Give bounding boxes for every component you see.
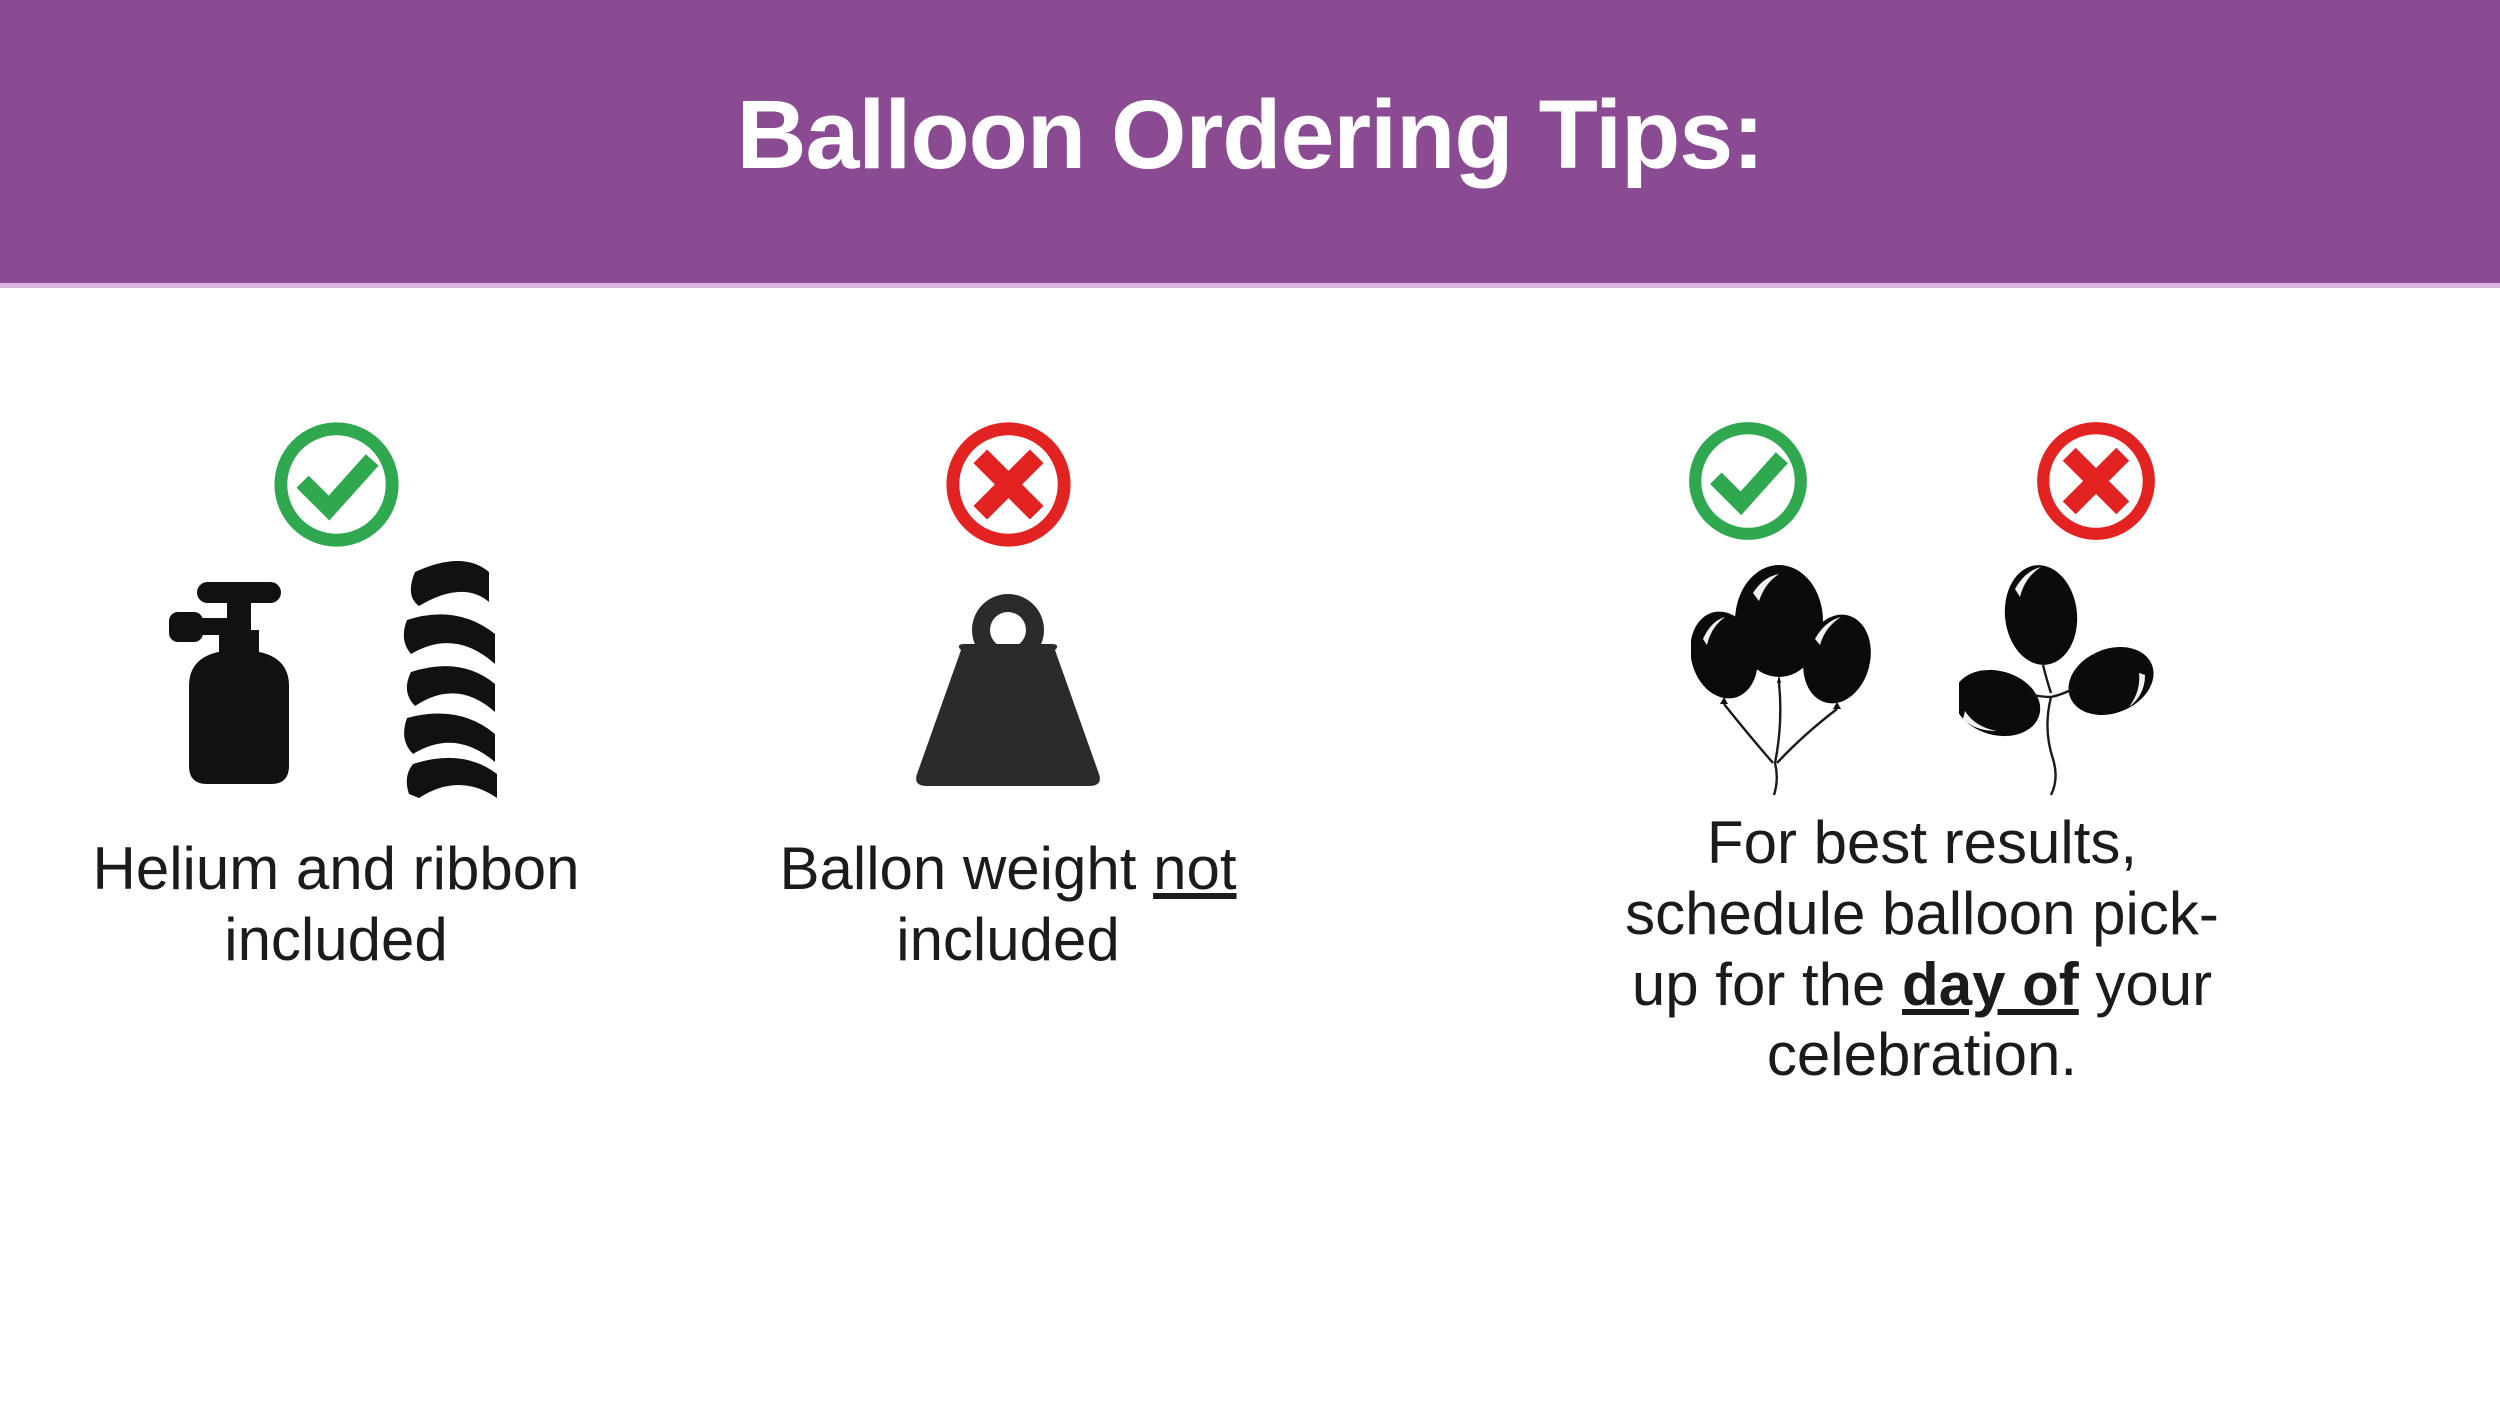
tip-caption-pickup-timing: For best results, schedule balloon pick-… bbox=[1344, 808, 2500, 1091]
tip-caption-helium-ribbon: Helium and ribbon included bbox=[0, 834, 672, 976]
green-check-circle-icon bbox=[1683, 416, 1813, 546]
tips-columns: Helium and ribbon included bbox=[0, 288, 2500, 1406]
caption-line: For best results, bbox=[1514, 808, 2330, 879]
status-marks-row bbox=[672, 288, 1344, 438]
caption-text: celebration. bbox=[1767, 1021, 2077, 1088]
caption-text: Helium and ribbon bbox=[93, 835, 580, 902]
curly-ribbon-icon bbox=[385, 558, 505, 798]
red-x-circle-icon bbox=[2031, 416, 2161, 546]
caption-text: your bbox=[2079, 951, 2212, 1018]
balloon-bouquet-inflated-icon bbox=[1691, 563, 1881, 798]
green-check-circle-icon bbox=[268, 416, 405, 553]
caption-line: celebration. bbox=[1514, 1020, 2330, 1091]
caption-text: schedule balloon pick- bbox=[1625, 880, 2219, 947]
tip-caption-balloon-weight: Ballon weight not included bbox=[672, 834, 1344, 976]
balloon-weight-icon bbox=[893, 588, 1123, 798]
page-title: Balloon Ordering Tips: bbox=[736, 86, 1763, 197]
caption-text: Ballon weight bbox=[780, 835, 1154, 902]
header-band: Balloon Ordering Tips: bbox=[0, 0, 2500, 283]
status-marks-row bbox=[0, 288, 672, 438]
caption-line: included bbox=[24, 905, 648, 976]
tip-column-pickup-timing: For best results, schedule balloon pick-… bbox=[1344, 288, 2500, 1406]
caption-line: schedule balloon pick- bbox=[1514, 879, 2330, 950]
caption-line: included bbox=[696, 905, 1320, 976]
helium-tank-icon bbox=[167, 578, 307, 798]
poster-root: Balloon Ordering Tips: bbox=[0, 0, 2500, 1406]
caption-line: Ballon weight not bbox=[696, 834, 1320, 905]
status-marks-row bbox=[1344, 288, 2500, 438]
tip-column-balloon-weight: Ballon weight not included bbox=[672, 288, 1344, 1406]
caption-line: up for the day of your bbox=[1514, 950, 2330, 1021]
red-x-circle-icon bbox=[940, 416, 1077, 553]
caption-text: included bbox=[224, 906, 448, 973]
illustration-row bbox=[1344, 438, 2500, 798]
caption-emphasis-not: not bbox=[1153, 835, 1236, 902]
tip-column-helium-ribbon: Helium and ribbon included bbox=[0, 288, 672, 1406]
caption-text: For best results, bbox=[1707, 809, 2137, 876]
caption-text: up for the bbox=[1632, 951, 1902, 1018]
caption-emphasis-day-of: day of bbox=[1902, 951, 2079, 1018]
balloon-bouquet-deflated-icon bbox=[1959, 563, 2154, 798]
caption-text: included bbox=[896, 906, 1120, 973]
caption-line: Helium and ribbon bbox=[24, 834, 648, 905]
